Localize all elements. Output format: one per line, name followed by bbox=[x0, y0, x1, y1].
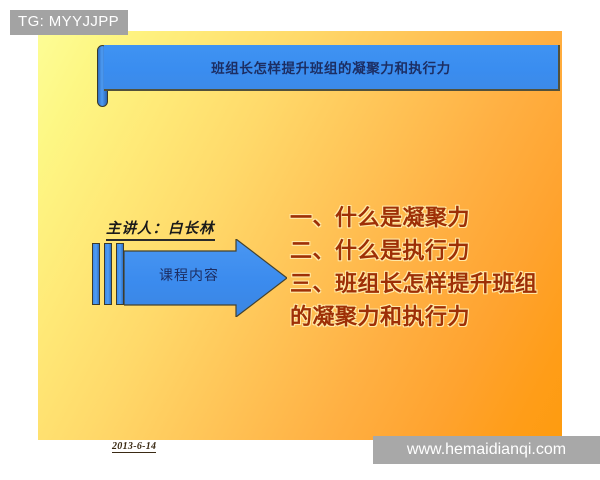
decorative-vertical-bar-2 bbox=[104, 243, 112, 305]
agenda-item: 的凝聚力和执行力 bbox=[290, 300, 570, 333]
decorative-vertical-bar-3 bbox=[116, 243, 124, 305]
decorative-vertical-bar-1 bbox=[92, 243, 100, 305]
banner-body: 班组长怎样提升班组的凝聚力和执行力 bbox=[104, 45, 560, 91]
slide-title: 班组长怎样提升班组的凝聚力和执行力 bbox=[211, 57, 451, 77]
site-watermark: www.hemaidianqi.com bbox=[373, 436, 600, 464]
presentation-slide: 班组长怎样提升班组的凝聚力和执行力 主讲人：白长林 课程内容 一、什么是凝聚力 … bbox=[38, 31, 562, 440]
agenda-list: 一、什么是凝聚力 二、什么是执行力 三、班组长怎样提升班组 的凝聚力和执行力 bbox=[290, 201, 570, 333]
agenda-item: 一、什么是凝聚力 bbox=[290, 201, 570, 234]
title-banner: 班组长怎样提升班组的凝聚力和执行力 bbox=[66, 45, 560, 121]
right-arrow-shape: 课程内容 bbox=[124, 239, 287, 317]
agenda-item: 三、班组长怎样提升班组 bbox=[290, 267, 570, 300]
tg-watermark-badge: TG: MYYJJPP bbox=[10, 10, 128, 35]
slide-date: 2013-6-14 bbox=[112, 441, 156, 453]
arrow-label: 课程内容 bbox=[124, 265, 254, 285]
agenda-item: 二、什么是执行力 bbox=[290, 234, 570, 267]
speaker-label: 主讲人：白长林 bbox=[106, 217, 215, 241]
